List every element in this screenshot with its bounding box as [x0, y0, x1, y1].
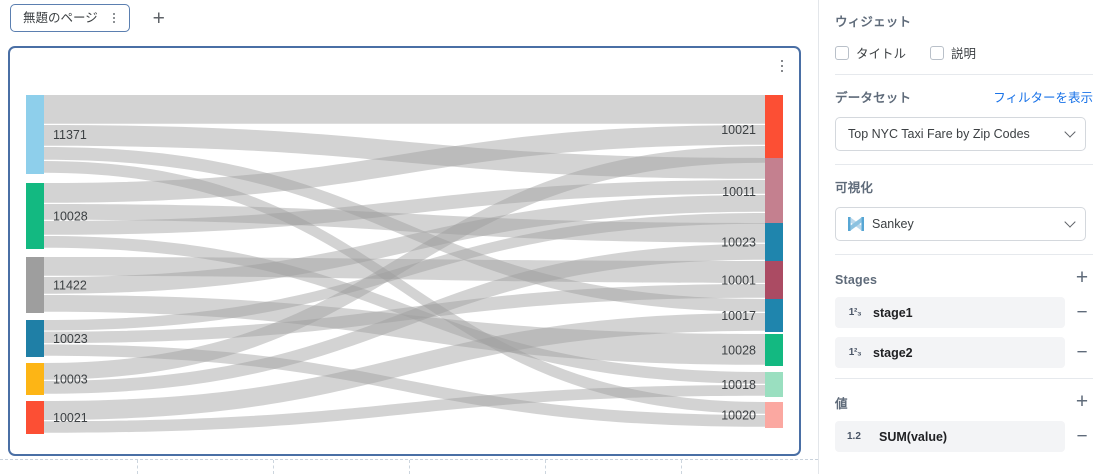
- dataset-header: データセット フィルターを表示: [835, 87, 1093, 106]
- widget-section: ウィジェット タイトル 説明: [819, 0, 1109, 74]
- sankey-links: [44, 95, 765, 433]
- sankey-node-label: 10001: [721, 274, 756, 288]
- stage-field-label: stage2: [873, 346, 913, 360]
- values-section-title: 値: [835, 393, 848, 412]
- values-header: 値 +: [835, 390, 1093, 412]
- stage-row: 1²₃ stage1 −: [835, 297, 1093, 328]
- sankey-node-left[interactable]: [26, 183, 44, 249]
- chevron-down-icon[interactable]: [1065, 129, 1075, 139]
- sankey-node-label: 11422: [53, 279, 87, 293]
- sankey-node-label: 10020: [721, 409, 756, 423]
- sankey-node-label: 10021: [53, 411, 88, 425]
- widget-card[interactable]: 1137110028114221002310003100211002110011…: [8, 46, 801, 456]
- sankey-chart-icon: [848, 217, 864, 231]
- stages-section-title: Stages: [835, 273, 877, 287]
- checkbox-title-label: タイトル: [856, 43, 906, 62]
- checkbox-description[interactable]: 説明: [930, 43, 976, 62]
- page-tab-untitled[interactable]: 無題のページ: [10, 4, 130, 32]
- sankey-node-label: 11371: [53, 128, 87, 142]
- value-field-label: SUM(value): [879, 430, 947, 444]
- stage-field-stage1[interactable]: 1²₃ stage1: [835, 297, 1065, 328]
- settings-sidebar: ウィジェット タイトル 説明 データセット フィルターを表示 Top NY: [818, 0, 1109, 474]
- add-stage-button[interactable]: +: [1071, 266, 1093, 288]
- visualization-section: 可視化 Sankey: [819, 165, 1109, 254]
- checkbox-title[interactable]: タイトル: [835, 43, 906, 62]
- sankey-node-label: 10011: [722, 185, 756, 199]
- number-list-icon: 1²₃: [847, 347, 863, 358]
- widget-checkbox-row: タイトル 説明: [835, 43, 1093, 62]
- add-page-button[interactable]: +: [146, 5, 172, 31]
- plus-icon: +: [153, 8, 165, 29]
- sankey-node-label: 10028: [721, 344, 756, 358]
- sankey-node-right[interactable]: [765, 158, 783, 225]
- grid-line-vertical: [137, 460, 138, 474]
- visualization-select[interactable]: Sankey: [835, 207, 1086, 241]
- values-section: 値 + 1.2 SUM(value) −: [819, 379, 1109, 460]
- remove-value-button[interactable]: −: [1071, 426, 1093, 448]
- widget-menu-icon[interactable]: [775, 56, 789, 76]
- stage-row: 1²₃ stage2 −: [835, 337, 1093, 368]
- decimal-number-icon: 1.2: [847, 431, 869, 442]
- value-field-sum[interactable]: 1.2 SUM(value): [835, 421, 1065, 452]
- remove-stage-button[interactable]: −: [1071, 302, 1093, 324]
- sankey-node-right[interactable]: [765, 402, 783, 428]
- sankey-node-right[interactable]: [765, 261, 783, 299]
- stages-section: Stages + 1²₃ stage1 − 1²₃ stage2 −: [819, 255, 1109, 378]
- sankey-node-left[interactable]: [26, 363, 44, 395]
- dataset-section: データセット フィルターを表示 Top NYC Taxi Fare by Zip…: [819, 75, 1109, 164]
- sankey-chart: 1137110028114221002310003100211002110011…: [10, 48, 799, 454]
- dataset-select[interactable]: Top NYC Taxi Fare by Zip Codes: [835, 117, 1086, 151]
- sankey-node-left[interactable]: [26, 95, 44, 174]
- page-tab-label: 無題のページ: [23, 12, 98, 25]
- layout-grid: [0, 459, 818, 474]
- dataset-section-title: データセット: [835, 87, 911, 106]
- number-list-icon: 1²₃: [847, 307, 863, 318]
- sankey-link[interactable]: [44, 95, 765, 124]
- sankey-node-right[interactable]: [765, 299, 783, 332]
- add-value-button[interactable]: +: [1071, 390, 1093, 412]
- chevron-down-icon[interactable]: [1065, 219, 1075, 229]
- stage-field-stage2[interactable]: 1²₃ stage2: [835, 337, 1065, 368]
- grid-line-vertical: [409, 460, 410, 474]
- sankey-node-label: 10023: [53, 332, 88, 346]
- stages-header: Stages +: [835, 266, 1093, 288]
- sankey-node-label: 10023: [721, 236, 756, 250]
- checkbox-description-label: 説明: [951, 43, 976, 62]
- sankey-node-left[interactable]: [26, 320, 44, 357]
- grid-line-vertical: [681, 460, 682, 474]
- grid-line-vertical: [545, 460, 546, 474]
- sankey-node-left[interactable]: [26, 257, 44, 313]
- checkbox-box-icon[interactable]: [930, 46, 944, 60]
- sankey-node-right[interactable]: [765, 223, 783, 261]
- sankey-node-label: 10018: [721, 378, 756, 392]
- remove-stage-button[interactable]: −: [1071, 342, 1093, 364]
- value-row: 1.2 SUM(value) −: [835, 421, 1093, 452]
- checkbox-box-icon[interactable]: [835, 46, 849, 60]
- sankey-node-label: 10028: [53, 210, 88, 224]
- sankey-node-right[interactable]: [765, 334, 783, 366]
- visualization-selected-value: Sankey: [872, 217, 1065, 231]
- sankey-node-label: 10003: [53, 373, 88, 387]
- page-tab-bar: 無題のページ +: [0, 0, 818, 36]
- visualization-section-title: 可視化: [835, 177, 1093, 196]
- sankey-node-right[interactable]: [765, 95, 783, 164]
- stage-field-label: stage1: [873, 306, 913, 320]
- dataset-selected-value: Top NYC Taxi Fare by Zip Codes: [848, 127, 1065, 141]
- show-filters-link[interactable]: フィルターを表示: [993, 87, 1093, 106]
- widget-section-title: ウィジェット: [835, 11, 1093, 30]
- app-root: 無題のページ + 1137110028114221002310003100211…: [0, 0, 1109, 474]
- grid-line-vertical: [273, 460, 274, 474]
- sankey-node-label: 10017: [721, 309, 756, 323]
- canvas-area: 無題のページ + 1137110028114221002310003100211…: [0, 0, 818, 474]
- page-tab-menu-icon[interactable]: [108, 10, 120, 26]
- sankey-node-left[interactable]: [26, 401, 44, 434]
- sankey-node-right[interactable]: [765, 372, 783, 397]
- sankey-node-label: 10021: [721, 123, 756, 137]
- sankey-svg: 1137110028114221002310003100211002110011…: [10, 48, 799, 454]
